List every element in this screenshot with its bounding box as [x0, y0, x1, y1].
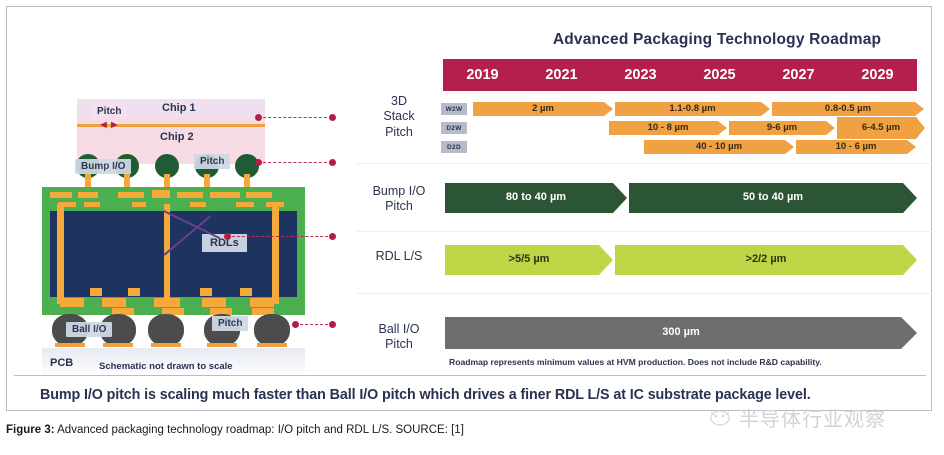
- connector-line-stack: [258, 117, 332, 118]
- row-label-3d-stack-line3: Pitch: [357, 125, 441, 140]
- rdl-trace-t6: [210, 192, 240, 198]
- row-label-3d-stack-line2: Stack: [357, 109, 441, 124]
- year-2019: 2019: [443, 67, 522, 83]
- rdl-trace-t2: [78, 192, 98, 198]
- roadmap-title: Advanced Packaging Technology Roadmap: [507, 31, 927, 49]
- bar-d2d-seg-1: 40 - 10 µm: [644, 140, 794, 154]
- substrate-core-layer: [50, 211, 297, 297]
- summary-banner-text: Bump I/O pitch is scaling much faster th…: [14, 387, 811, 403]
- row-label-bump-line2: Pitch: [357, 199, 441, 214]
- solder-ball-5: [254, 314, 290, 346]
- pitch-arrow-stack-icon: ◄►: [98, 122, 112, 128]
- rdl-trace-b4: [202, 298, 226, 307]
- rdl-trace-t5: [177, 192, 203, 198]
- bar-d2w-seg-2: 9-6 µm: [729, 121, 835, 135]
- bar-rdl-ls-seg-2: >2/2 µm: [615, 245, 917, 275]
- year-2023: 2023: [601, 67, 680, 83]
- connector-line-rdl: [227, 236, 333, 237]
- year-2021: 2021: [522, 67, 601, 83]
- bar-d2w-seg-3: 6-4.5 µm: [837, 117, 925, 139]
- row-label-bump-line1: Bump I/O: [357, 184, 441, 199]
- connector-dot-ball-right: [329, 321, 336, 328]
- figure-caption: Figure 3: Advanced packaging technology …: [6, 424, 464, 436]
- row-label-ball-line2: Pitch: [357, 337, 441, 352]
- year-2029: 2029: [838, 67, 917, 83]
- schematic-note: Schematic not drawn to scale: [99, 361, 233, 372]
- connector-dot-rdl-right: [329, 233, 336, 240]
- row-label-ball-io-pitch: Ball I/O Pitch: [357, 322, 441, 353]
- solder-ball-3: [148, 314, 184, 346]
- row-label-3d-stack-pitch: 3D Stack Pitch: [357, 94, 441, 140]
- rdl-trace-b2: [102, 298, 126, 307]
- pitch-label-ball: Pitch: [212, 316, 248, 331]
- ball-pad-4: [207, 343, 237, 347]
- connector-dot-rdl-left: [224, 233, 231, 240]
- through-via-left: [57, 204, 64, 304]
- row-label-bump-io-pitch: Bump I/O Pitch: [357, 184, 441, 215]
- row-label-rdl-ls: RDL L/S: [357, 249, 441, 264]
- bar-w2w-seg-1: 2 µm: [473, 102, 613, 116]
- figure-caption-label: Figure 3:: [6, 424, 55, 436]
- badge-d2w: D2W: [441, 122, 467, 134]
- bottom-pad-2: [128, 288, 140, 296]
- bar-bump-io-seg-1: 80 to 40 µm: [445, 183, 627, 213]
- ball-pad-1: [55, 343, 85, 347]
- bottom-pad-3: [200, 288, 212, 296]
- package-cross-section-schematic: Chip 1 Chip 2 Pitch ◄► Bump I/O Pitch: [14, 14, 344, 374]
- watermark-logo-icon: [707, 408, 733, 426]
- rdl-trace-t11: [190, 202, 206, 207]
- rdl-trace-t7: [246, 192, 272, 198]
- watermark-text: 半导体行业观察: [739, 403, 886, 432]
- connector-dot-ball-left: [292, 321, 299, 328]
- ball-pad-2: [103, 343, 133, 347]
- rdl-trace-t12: [236, 202, 254, 207]
- connector-line-bump: [258, 162, 332, 163]
- divider-after-bump: [357, 231, 932, 232]
- badge-w2w: W2W: [441, 103, 467, 115]
- rdl-trace-b1: [60, 298, 84, 307]
- bump-io-label: Bump I/O: [75, 159, 131, 174]
- chip1-label: Chip 1: [162, 102, 196, 114]
- bar-w2w-seg-3: 0.8-0.5 µm: [772, 102, 924, 116]
- pcb-label: PCB: [50, 357, 73, 369]
- year-2027: 2027: [759, 67, 838, 83]
- year-2025: 2025: [680, 67, 759, 83]
- rdl-trace-t10: [132, 202, 146, 207]
- roadmap-panel: Advanced Packaging Technology Roadmap 20…: [357, 21, 932, 373]
- divider-after-stack: [357, 163, 932, 164]
- row-label-rdl-line1: RDL L/S: [357, 249, 441, 264]
- connector-dot-bump-right: [329, 159, 336, 166]
- pitch-label-stack: Pitch: [91, 104, 127, 119]
- roadmap-footnote: Roadmap represents minimum values at HVM…: [449, 357, 822, 367]
- watermark: 半导体行业观察: [707, 403, 937, 431]
- ball-pad-3: [151, 343, 181, 347]
- rdl-trace-t4: [152, 190, 170, 198]
- rdl-trace-b5: [250, 298, 274, 307]
- figure-caption-text: Advanced packaging technology roadmap: I…: [57, 424, 464, 436]
- chip2-label: Chip 2: [160, 131, 194, 143]
- connector-line-ball: [295, 324, 333, 325]
- bar-d2w-seg-1: 10 - 8 µm: [609, 121, 727, 135]
- bar-rdl-ls-seg-1: >5/5 µm: [445, 245, 613, 275]
- rdl-trace-t1: [50, 192, 72, 198]
- bottom-pad-1: [90, 288, 102, 296]
- bar-ball-io-seg-1: 300 µm: [445, 317, 917, 349]
- row-label-ball-line1: Ball I/O: [357, 322, 441, 337]
- figure-screenshot: Chip 1 Chip 2 Pitch ◄► Bump I/O Pitch: [0, 0, 944, 455]
- row-label-3d-stack-line1: 3D: [357, 94, 441, 109]
- pitch-label-bump: Pitch: [194, 154, 230, 169]
- bottom-pad-4: [240, 288, 252, 296]
- connector-dot-stack-right: [329, 114, 336, 121]
- year-header-bar: 2019 2021 2023 2025 2027 2029: [443, 59, 917, 91]
- bar-d2d-seg-2: 10 - 6 µm: [796, 140, 916, 154]
- figure-frame: Chip 1 Chip 2 Pitch ◄► Bump I/O Pitch: [6, 6, 932, 411]
- rdl-trace-t3: [118, 192, 144, 198]
- connector-dot-bump-left: [255, 159, 262, 166]
- ball-pad-5: [257, 343, 287, 347]
- ball-io-label: Ball I/O: [66, 322, 112, 337]
- rdl-trace-b3: [154, 298, 180, 307]
- divider-after-rdl: [357, 293, 932, 294]
- connector-dot-stack-left: [255, 114, 262, 121]
- bar-w2w-seg-2: 1.1-0.8 µm: [615, 102, 770, 116]
- rdl-trace-t9: [84, 202, 100, 207]
- badge-d2d: D2D: [441, 141, 467, 153]
- bar-bump-io-seg-2: 50 to 40 µm: [629, 183, 917, 213]
- through-via-right: [272, 204, 279, 304]
